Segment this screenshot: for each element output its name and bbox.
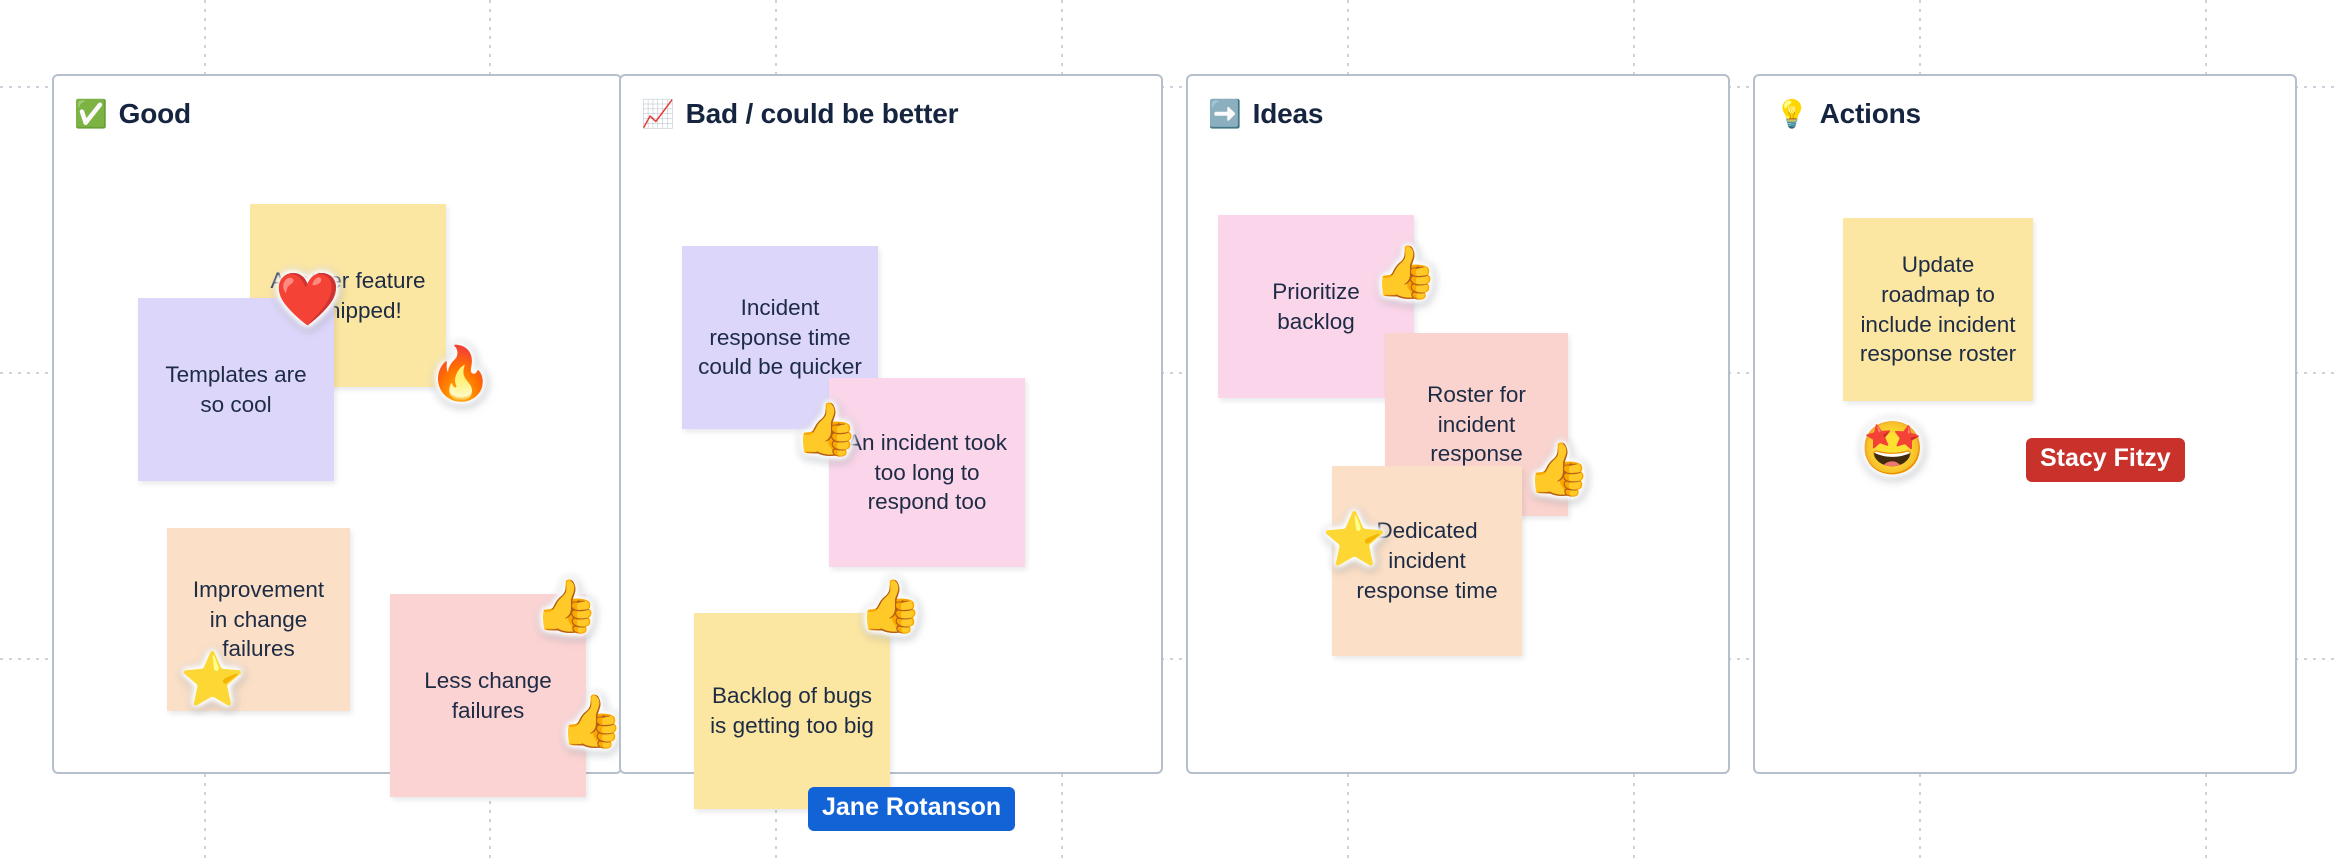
thumbs-up-icon[interactable]: 👍	[858, 581, 923, 633]
sticky-note-text: Update roadmap to include incident respo…	[1857, 250, 2019, 370]
column-bad[interactable]: 📈 Bad / could be better Incident respons…	[619, 74, 1163, 774]
sticky-note-text: Incident response time could be quicker	[696, 293, 864, 383]
star-struck-icon[interactable]: 🤩	[1860, 423, 1925, 475]
sticky-note-text: An incident took too long to respond too	[843, 428, 1011, 518]
notes-layer-actions: Update roadmap to include incident respo…	[1755, 76, 2295, 772]
star-icon[interactable]: ⭐	[180, 654, 245, 706]
notes-layer-bad: Incident response time could be quicker …	[621, 76, 1161, 772]
sticky-note[interactable]: Update roadmap to include incident respo…	[1843, 218, 2033, 401]
column-actions[interactable]: 💡 Actions Update roadmap to include inci…	[1753, 74, 2297, 774]
retro-board: ✅ Good Another feature is shipped! Templ…	[0, 0, 2336, 860]
column-ideas[interactable]: ➡️ Ideas Prioritize backlog Roster for i…	[1186, 74, 1730, 774]
thumbs-up-icon[interactable]: 👍	[1526, 444, 1591, 496]
notes-layer-ideas: Prioritize backlog Roster for incident r…	[1188, 76, 1728, 772]
thumbs-up-icon[interactable]: 👍	[1373, 247, 1438, 299]
collaborator-name-chip: Stacy Fitzy	[2026, 438, 2185, 482]
heart-icon[interactable]: ❤️	[275, 274, 340, 326]
fire-icon[interactable]: 🔥	[428, 348, 493, 400]
sticky-note-text: Less change failures	[404, 666, 572, 726]
collaborator-name-chip: Jane Rotanson	[808, 787, 1015, 831]
sticky-note-text: Templates are so cool	[152, 360, 320, 420]
star-icon[interactable]: ⭐	[1322, 514, 1387, 566]
column-good[interactable]: ✅ Good Another feature is shipped! Templ…	[52, 74, 622, 774]
sticky-note-text: Backlog of bugs is getting too big	[708, 681, 876, 741]
sticky-note[interactable]: Backlog of bugs is getting too big	[694, 613, 890, 809]
thumbs-up-icon[interactable]: 👍	[559, 696, 624, 748]
thumbs-up-icon[interactable]: 👍	[794, 404, 859, 456]
notes-layer-good: Another feature is shipped! Templates ar…	[54, 76, 620, 772]
thumbs-up-icon[interactable]: 👍	[534, 581, 599, 633]
